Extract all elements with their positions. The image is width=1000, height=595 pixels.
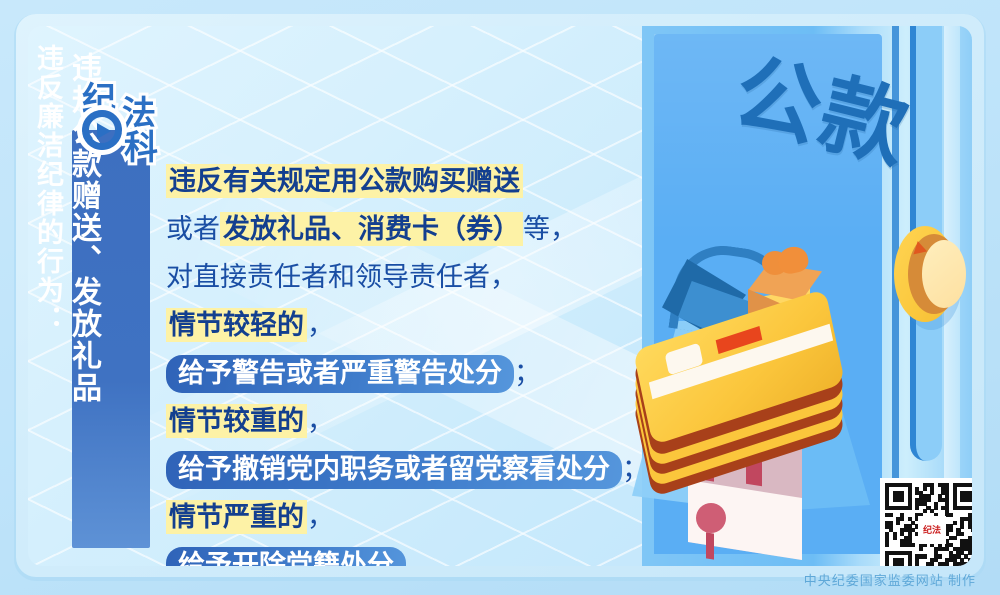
gift-money-scene — [628, 241, 908, 551]
text-segment: 。 — [406, 550, 433, 566]
highlighted-phrase: 发放礼品、消费卡（券） — [220, 212, 523, 246]
highlighted-phrase: 情节较轻的 — [166, 308, 307, 342]
text-segment: 等， — [523, 214, 577, 244]
text-segment: ， — [307, 406, 334, 436]
text-line-3: 对直接责任者和领导责任者， — [166, 256, 636, 298]
footer-credit: 中央纪委国家监委网站 制作 — [804, 570, 976, 589]
qr-center-logo: 纪法 — [918, 516, 946, 544]
brand-logo[interactable]: 纪 法 科 — [80, 72, 176, 160]
text-segment: 对直接责任者和领导责任者， — [166, 262, 517, 292]
text-segment: ， — [307, 310, 334, 340]
text-line-4: 情节较轻的， — [166, 304, 636, 346]
highlighted-phrase: 情节较重的 — [166, 404, 307, 438]
text-segment: ； — [514, 358, 541, 388]
text-line-2: 或者发放礼品、消费卡（券）等， — [166, 208, 636, 250]
text-line-5: 给予警告或者严重警告处分； — [166, 352, 636, 394]
banknote-seal-icon — [696, 503, 726, 533]
regulation-text-block: 违反有关规定用公款购买赠送或者发放礼品、消费卡（券）等，对直接责任者和领导责任者… — [166, 160, 636, 566]
sanction-pill: 给予开除党籍处分 — [166, 547, 406, 566]
banknote-detail-bar-3 — [706, 532, 714, 559]
infographic-poster: 公款 — [0, 0, 1000, 595]
logo-char-ke: 科 — [124, 120, 158, 169]
banner-column-left: 违反廉洁纪律的行为： — [34, 44, 61, 344]
text-segment: 或者 — [166, 214, 220, 244]
text-line-6: 情节较重的， — [166, 400, 636, 442]
text-line-8: 情节严重的， — [166, 496, 636, 538]
text-line-7: 给予撤销党内职务或者留党察看处分； — [166, 448, 636, 490]
highlighted-phrase: 违反有关规定用公款购买赠送 — [166, 164, 523, 198]
highlighted-phrase: 情节严重的 — [166, 500, 307, 534]
sanction-pill: 给予警告或者严重警告处分 — [166, 355, 514, 393]
qr-logo-text: 纪法 — [923, 526, 941, 534]
vault-knob-face — [922, 240, 966, 308]
play-icon — [97, 123, 111, 139]
text-segment: ， — [307, 502, 334, 532]
poster-canvas: 公款 — [28, 26, 972, 566]
text-segment: ； — [622, 454, 649, 484]
text-line-1: 违反有关规定用公款购买赠送 — [166, 160, 636, 202]
qr-code[interactable]: 纪法 — [880, 478, 972, 566]
sanction-pill: 给予撤销党内职务或者留党察看处分 — [166, 451, 622, 489]
text-line-9: 给予开除党籍处分。 — [166, 544, 636, 566]
qr-code-pattern: 纪法 — [885, 483, 972, 566]
